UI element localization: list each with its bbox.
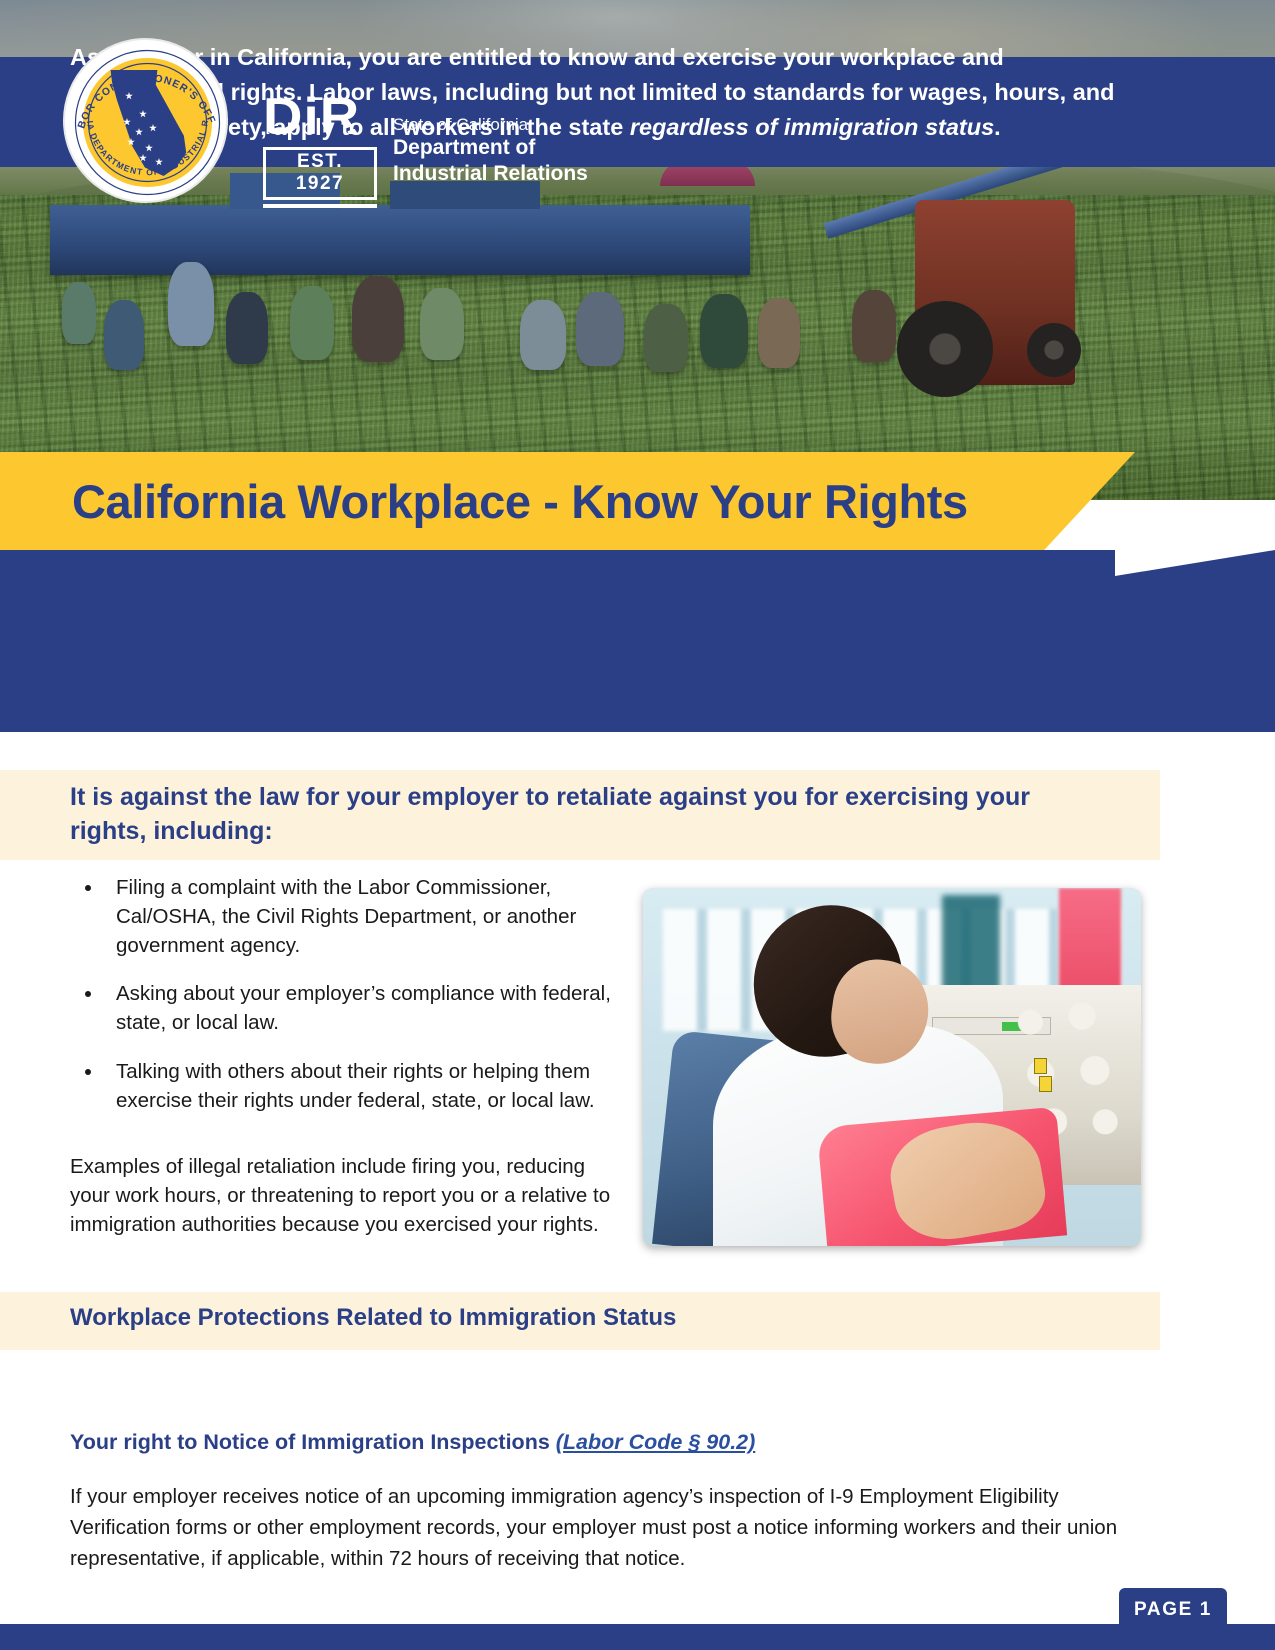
- immigration-body-paragraph: If your employer receives notice of an u…: [70, 1482, 1145, 1574]
- dir-rule: [263, 204, 377, 208]
- seal-top-text: LABOR COMMISSIONER'S OFFICE: [65, 40, 217, 130]
- retaliation-heading: It is against the law for your employer …: [70, 781, 1100, 848]
- hero-worker: [226, 292, 268, 364]
- labor-commissioner-seal: LABOR COMMISSIONER'S OFFICE CALIFORNIA D…: [63, 38, 228, 203]
- garment-worker-photo: [643, 888, 1141, 1246]
- footer-bar: [0, 1624, 1275, 1650]
- hero-worker: [290, 286, 334, 360]
- hero-worker: [852, 290, 896, 362]
- warning-label-icon: [1039, 1076, 1052, 1092]
- intro-emphasis: regardless of immigration status: [630, 114, 994, 140]
- immigration-subheading: Your right to Notice of Immigration Insp…: [70, 1430, 755, 1455]
- hero-worker: [576, 292, 624, 366]
- seal-ring-text: LABOR COMMISSIONER'S OFFICE CALIFORNIA D…: [65, 40, 230, 205]
- hero-worker: [700, 294, 748, 368]
- hero-worker: [758, 298, 800, 368]
- page-title: California Workplace - Know Your Rights: [72, 474, 968, 529]
- retaliation-examples-paragraph: Examples of illegal retaliation include …: [70, 1152, 618, 1239]
- hero-worker: [520, 300, 566, 370]
- hero-worker: [352, 276, 404, 362]
- immigration-heading: Workplace Protections Related to Immigra…: [70, 1304, 676, 1332]
- subhead-text: Your right to Notice of Immigration Insp…: [70, 1430, 556, 1454]
- page-number-badge: PAGE 1: [1119, 1588, 1227, 1632]
- hero-tractor: [915, 200, 1075, 385]
- hero-worker: [104, 300, 144, 370]
- dir-dept-line2: Industrial Relations: [393, 161, 588, 187]
- hero-worker: [168, 262, 214, 346]
- intro-part2: .: [994, 114, 1001, 140]
- list-item: Filing a complaint with the Labor Commis…: [104, 873, 613, 960]
- list-item: Talking with others about their rights o…: [104, 1057, 613, 1115]
- retaliation-bullet-list: Filing a complaint with the Labor Commis…: [78, 873, 613, 1134]
- hero-worker: [420, 288, 464, 360]
- labor-code-link[interactable]: (Labor Code § 90.2): [556, 1430, 756, 1454]
- list-item: Asking about your employer’s compliance …: [104, 979, 613, 1037]
- intro-block: [0, 550, 1275, 732]
- dir-est-badge: EST. 1927: [263, 147, 377, 200]
- hero-worker: [644, 304, 688, 372]
- warning-label-icon: [1034, 1058, 1047, 1074]
- title-banner: California Workplace - Know Your Rights: [0, 452, 1135, 550]
- hero-worker: [62, 282, 96, 344]
- hero-harvester-rig: [50, 205, 750, 275]
